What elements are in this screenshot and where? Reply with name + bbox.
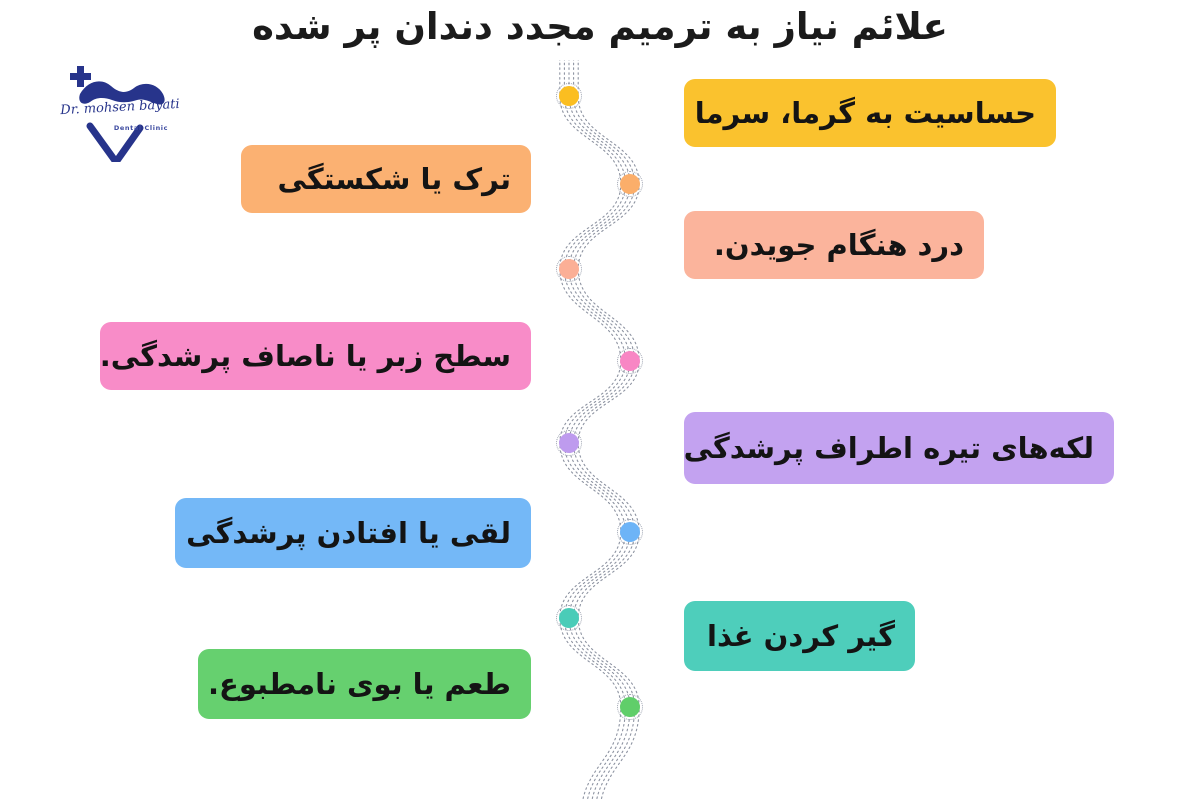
symptom-label: گیر کردن غذا: [707, 622, 895, 651]
symptom-label: طعم یا بوی نامطبوع.: [208, 670, 511, 699]
symptom-label: درد هنگام جویدن.: [714, 231, 964, 260]
symptom-label: لقی یا افتادن پرشدگی: [186, 519, 511, 548]
timeline-node-7[interactable]: [556, 605, 582, 631]
timeline-node-8[interactable]: [617, 694, 643, 720]
timeline-path: [520, 60, 700, 800]
node-ring-icon: [556, 430, 582, 456]
symptom-label: سطح زبر یا ناصاف پرشدگی.: [100, 342, 511, 371]
node-ring-icon: [617, 694, 643, 720]
symptom-box-2[interactable]: ترک یا شکستگی: [241, 145, 531, 213]
node-ring-icon: [617, 348, 643, 374]
clinic-logo: Dr. mohsen bayati Dental Clinic: [44, 58, 194, 162]
node-ring-icon: [617, 519, 643, 545]
node-ring-icon: [617, 171, 643, 197]
timeline-path-svg: [520, 60, 700, 800]
symptom-label: لکه‌های تیره اطراف پرشدگی: [684, 434, 1094, 463]
symptom-box-3[interactable]: درد هنگام جویدن.: [684, 211, 984, 279]
timeline-node-4[interactable]: [617, 348, 643, 374]
symptom-box-7[interactable]: گیر کردن غذا: [684, 601, 915, 671]
timeline-node-3[interactable]: [556, 256, 582, 282]
symptom-label: حساسیت به گرما، سرما: [695, 99, 1036, 128]
symptom-label: ترک یا شکستگی: [277, 165, 511, 194]
page-title: علائم نیاز به ترمیم مجدد دندان پر شده: [0, 4, 1200, 50]
infographic-canvas: علائم نیاز به ترمیم مجدد دندان پر شده Dr…: [0, 0, 1200, 800]
node-ring-icon: [556, 83, 582, 109]
symptom-box-4[interactable]: سطح زبر یا ناصاف پرشدگی.: [100, 322, 531, 390]
symptom-box-1[interactable]: حساسیت به گرما، سرما: [684, 79, 1056, 147]
timeline-node-5[interactable]: [556, 430, 582, 456]
symptom-box-8[interactable]: طعم یا بوی نامطبوع.: [198, 649, 531, 719]
symptom-box-6[interactable]: لقی یا افتادن پرشدگی: [175, 498, 531, 568]
path-strand: [569, 60, 630, 800]
symptom-box-5[interactable]: لکه‌های تیره اطراف پرشدگی: [684, 412, 1114, 484]
node-ring-icon: [556, 256, 582, 282]
node-ring-icon: [556, 605, 582, 631]
timeline-node-6[interactable]: [617, 519, 643, 545]
logo-subtitle: Dental Clinic: [96, 124, 186, 132]
timeline-node-2[interactable]: [617, 171, 643, 197]
timeline-node-1[interactable]: [556, 83, 582, 109]
